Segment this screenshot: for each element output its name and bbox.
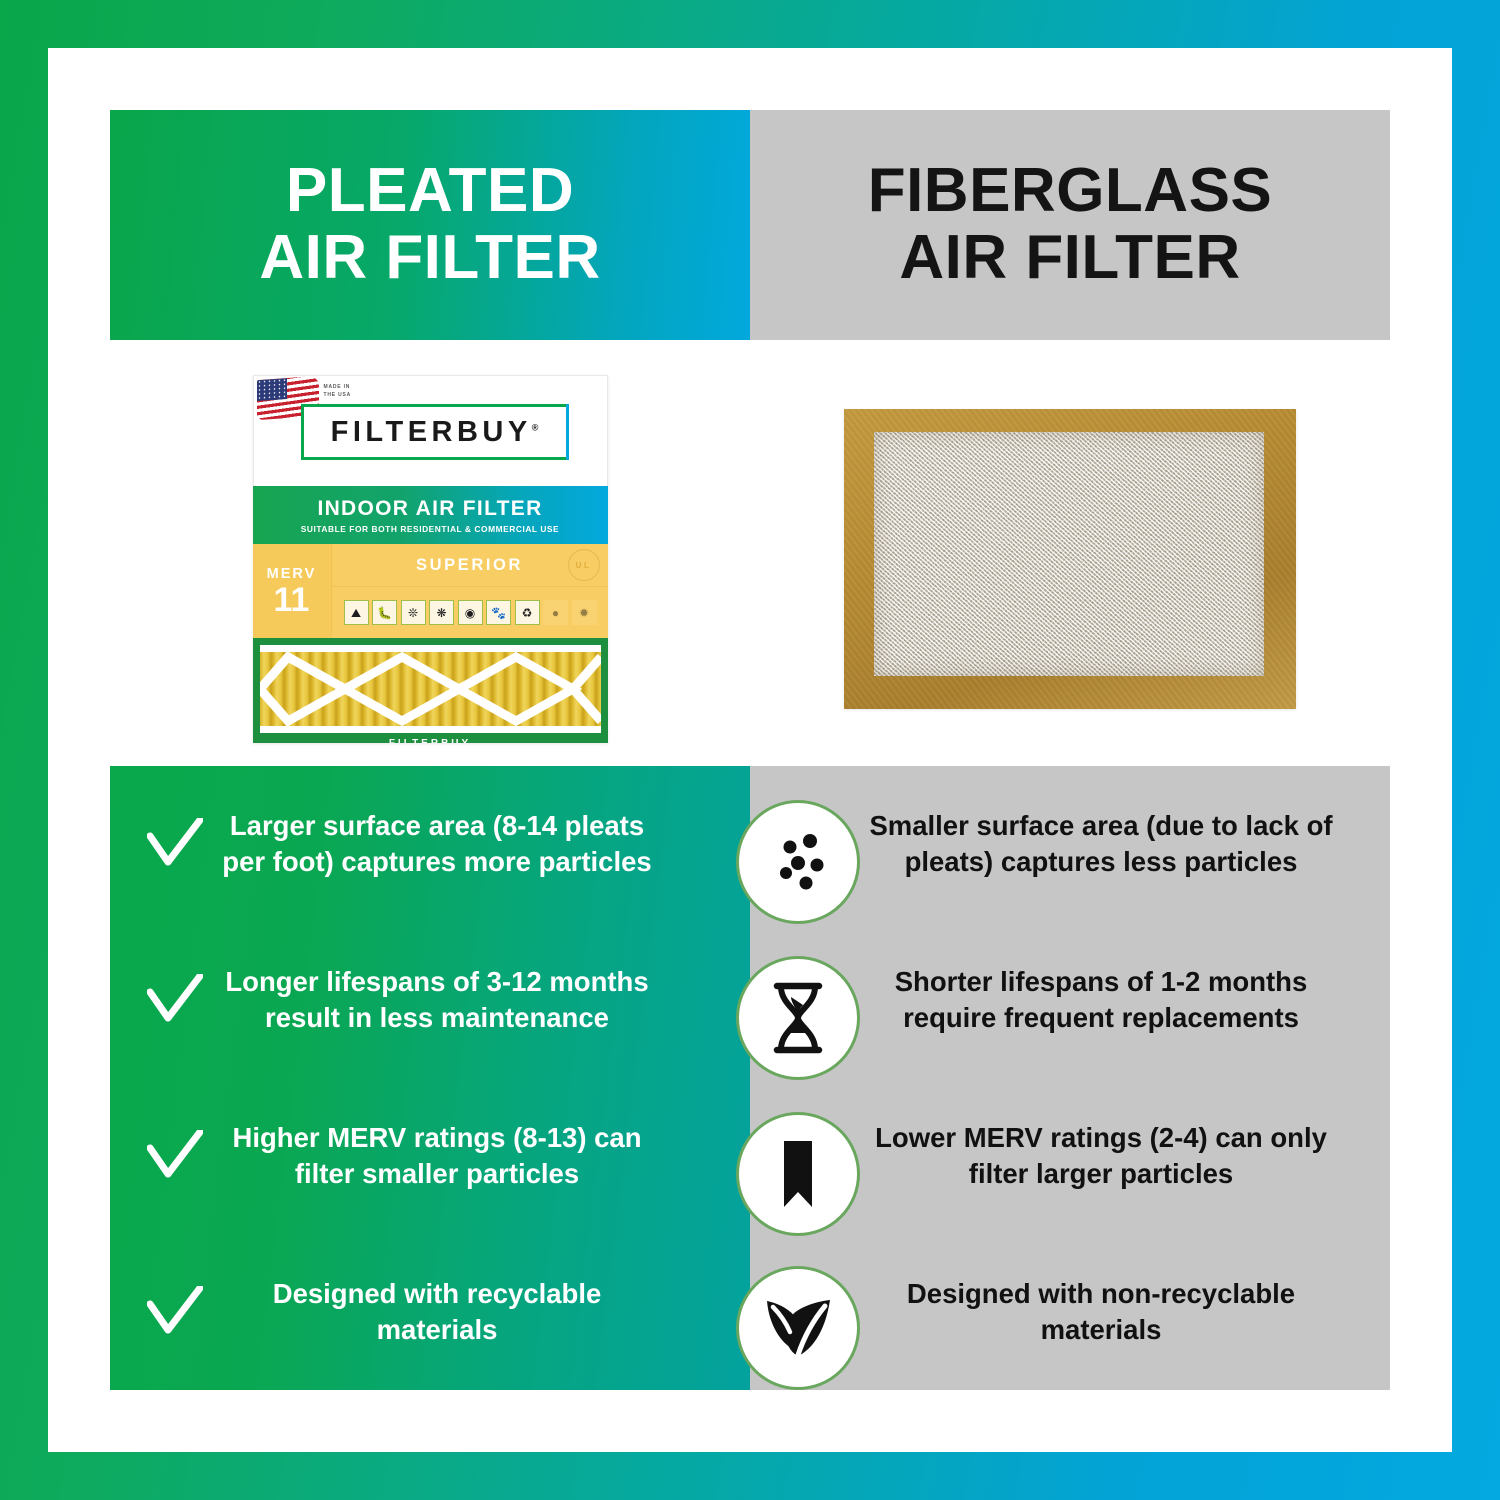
made-in-usa-label: MADE IN THE USA bbox=[324, 384, 352, 399]
ul-seal-icon: UL bbox=[568, 549, 600, 581]
particles-glyph bbox=[761, 825, 835, 899]
bacteria-icon: ◉ bbox=[458, 600, 483, 625]
comparison-left-rows: Larger surface area (8-14 pleats per foo… bbox=[110, 766, 750, 1390]
tier-label-row: SUPERIOR UL bbox=[332, 544, 608, 587]
checkmark-icon bbox=[144, 1130, 206, 1182]
leaf-sprout-glyph bbox=[759, 1293, 837, 1363]
comparison-right-text: Lower MERV ratings (2-4) can only filter… bbox=[846, 1120, 1356, 1192]
hourglass-glyph bbox=[767, 981, 829, 1055]
particles-icon bbox=[736, 800, 860, 924]
merv-label: MERV bbox=[267, 566, 317, 582]
feature-icon-strip: ⛰ 🐛 ❊ ❋ ◉ 🐾 ♻ ● ✹ bbox=[332, 587, 608, 638]
filterbuy-logo: FILTERBUY® bbox=[301, 404, 569, 460]
comparison-left-text: Higher MERV ratings (8-13) can filter sm… bbox=[210, 1120, 664, 1192]
comparison-left-text: Larger surface area (8-14 pleats per foo… bbox=[210, 808, 664, 880]
merv-badge: MERV 11 bbox=[253, 544, 332, 638]
comparison-right-text: Shorter lifespans of 1-2 months require … bbox=[846, 964, 1356, 1036]
fiberglass-mesh-texture bbox=[874, 432, 1264, 676]
indoor-air-filter-title: INDOOR AIR FILTER bbox=[317, 497, 542, 521]
pleated-media-area: FILTERBUY bbox=[253, 638, 608, 743]
brand-wordmark: FILTERBUY bbox=[331, 416, 532, 448]
header-row: PLEATED AIR FILTER FIBERGLASS AIR FILTER bbox=[110, 110, 1390, 340]
ribbon-icon bbox=[736, 1112, 860, 1236]
registered-mark: ® bbox=[532, 422, 539, 432]
header-pleated: PLEATED AIR FILTER bbox=[110, 110, 750, 340]
tier-label: SUPERIOR bbox=[416, 556, 523, 575]
product-image-row: MADE IN THE USA FILTERBUY® INDOOR AIR FI… bbox=[110, 340, 1390, 778]
header-fiberglass: FIBERGLASS AIR FILTER bbox=[750, 110, 1390, 340]
pleated-filter-product-image: MADE IN THE USA FILTERBUY® INDOOR AIR FI… bbox=[253, 375, 608, 743]
hourglass-icon bbox=[736, 956, 860, 1080]
comparison-left-text: Designed with recyclable materials bbox=[210, 1276, 664, 1348]
merv-value: 11 bbox=[274, 583, 310, 617]
comparison-row: Larger surface area (8-14 pleats per foo… bbox=[110, 766, 750, 922]
wire-lattice-icon bbox=[260, 645, 601, 733]
filterbox-spec-band: MERV 11 SUPERIOR UL ⛰ 🐛 ❊ bbox=[253, 544, 608, 638]
mold-spore-icon: ❋ bbox=[429, 600, 454, 625]
comparison-row: Higher MERV ratings (8-13) can filter sm… bbox=[110, 1078, 750, 1234]
filterbox-indoor-band: INDOOR AIR FILTER SUITABLE FOR BOTH RESI… bbox=[253, 486, 608, 544]
comparison-column-pleated: Larger surface area (8-14 pleats per foo… bbox=[110, 766, 750, 1390]
virus-icon: ✹ bbox=[572, 600, 597, 625]
checkmark-glyph bbox=[147, 1130, 203, 1182]
product-cell-fiberglass bbox=[750, 340, 1390, 778]
infographic-page: PLEATED AIR FILTER FIBERGLASS AIR FILTER… bbox=[0, 0, 1500, 1500]
filterbox-bottom-brand: FILTERBUY bbox=[253, 738, 608, 743]
pet-dander-icon: 🐾 bbox=[486, 600, 511, 625]
header-pleated-title: PLEATED AIR FILTER bbox=[259, 158, 600, 292]
pollen-icon: ❊ bbox=[401, 600, 426, 625]
infographic-inner-canvas: PLEATED AIR FILTER FIBERGLASS AIR FILTER… bbox=[48, 48, 1452, 1452]
checkmark-glyph bbox=[147, 1286, 203, 1338]
smoke-icon: ♻ bbox=[515, 600, 540, 625]
checkmark-glyph bbox=[147, 818, 203, 870]
header-fiberglass-title: FIBERGLASS AIR FILTER bbox=[868, 158, 1273, 292]
pleat-texture bbox=[260, 645, 601, 733]
indoor-air-filter-subtitle: SUITABLE FOR BOTH RESIDENTIAL & COMMERCI… bbox=[301, 524, 559, 534]
checkmark-icon bbox=[144, 974, 206, 1026]
comparison-left-text: Longer lifespans of 3-12 months result i… bbox=[210, 964, 664, 1036]
leaf-sprout-icon bbox=[736, 1266, 860, 1390]
comparison-row: Designed with recyclable materials bbox=[110, 1234, 750, 1390]
checkmark-icon bbox=[144, 818, 206, 870]
checkmark-icon bbox=[144, 1286, 206, 1338]
filterbox-top-section: MADE IN THE USA FILTERBUY® bbox=[253, 375, 608, 486]
filterbuy-logo-text: FILTERBUY® bbox=[331, 416, 539, 449]
comparison-right-text: Smaller surface area (due to lack of ple… bbox=[846, 808, 1356, 880]
dust-icon: ⛰ bbox=[344, 600, 369, 625]
filterbox-spec-right: SUPERIOR UL ⛰ 🐛 ❊ ❋ ◉ 🐾 ♻ bbox=[332, 544, 608, 638]
insect-icon: 🐛 bbox=[372, 600, 397, 625]
fiberglass-filter-product-image bbox=[844, 409, 1296, 709]
ribbon-glyph bbox=[772, 1137, 824, 1211]
checkmark-glyph bbox=[147, 974, 203, 1026]
capsule-icon: ● bbox=[543, 600, 568, 625]
comparison-row: Longer lifespans of 3-12 months result i… bbox=[110, 922, 750, 1078]
product-cell-pleated: MADE IN THE USA FILTERBUY® INDOOR AIR FI… bbox=[110, 340, 750, 778]
comparison-right-text: Designed with non-recyclable materials bbox=[846, 1276, 1356, 1348]
